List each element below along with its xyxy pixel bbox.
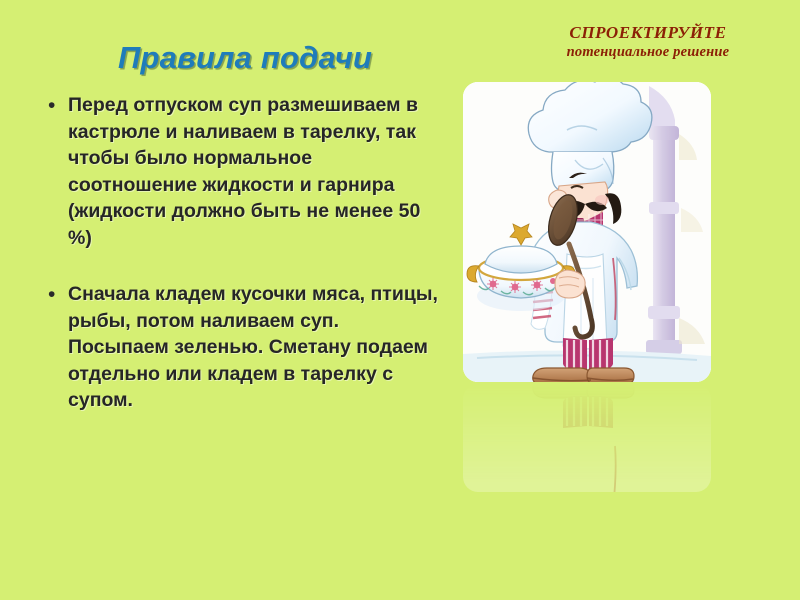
- list-item-label: Сначала кладем кусочки мяса, птицы, рыбы…: [68, 281, 442, 414]
- corner-note-line-1: СПРОЕКТИРУЙТЕ: [500, 24, 796, 41]
- chef-shoes-icon: [533, 368, 634, 382]
- bullet-marker-icon: •: [42, 92, 68, 119]
- list-item: • Перед отпуском суп размешиваем в кастр…: [42, 92, 442, 251]
- picture-reflection-inner: [463, 384, 711, 492]
- picture-card: [463, 82, 711, 382]
- chef-illustration-reflection-svg: [463, 384, 711, 492]
- slide-canvas: СПРОЕКТИРУЙТЕ потенциальное решение Прав…: [0, 0, 800, 600]
- bullet-marker-icon: •: [42, 281, 68, 308]
- list-item: • Сначала кладем кусочки мяса, птицы, ры…: [42, 281, 442, 414]
- bullet-list: • Перед отпуском суп размешиваем в кастр…: [42, 92, 442, 444]
- page-title: Правила подачи: [118, 40, 372, 76]
- picture-reflection: [463, 384, 711, 492]
- chef-with-soup-tureen-illustration: [463, 82, 711, 382]
- chef-with-soup-tureen-illustration-reflection: [463, 384, 711, 492]
- reflection-shoes: [533, 384, 634, 398]
- chef-illustration-svg: [463, 82, 711, 382]
- chef-hand: [555, 270, 585, 298]
- corner-note-line-2: потенциальное решение: [500, 45, 796, 60]
- corner-note: СПРОЕКТИРУЙТЕ потенциальное решение: [500, 24, 796, 60]
- list-item-label: Перед отпуском суп размешиваем в кастрюл…: [68, 92, 442, 251]
